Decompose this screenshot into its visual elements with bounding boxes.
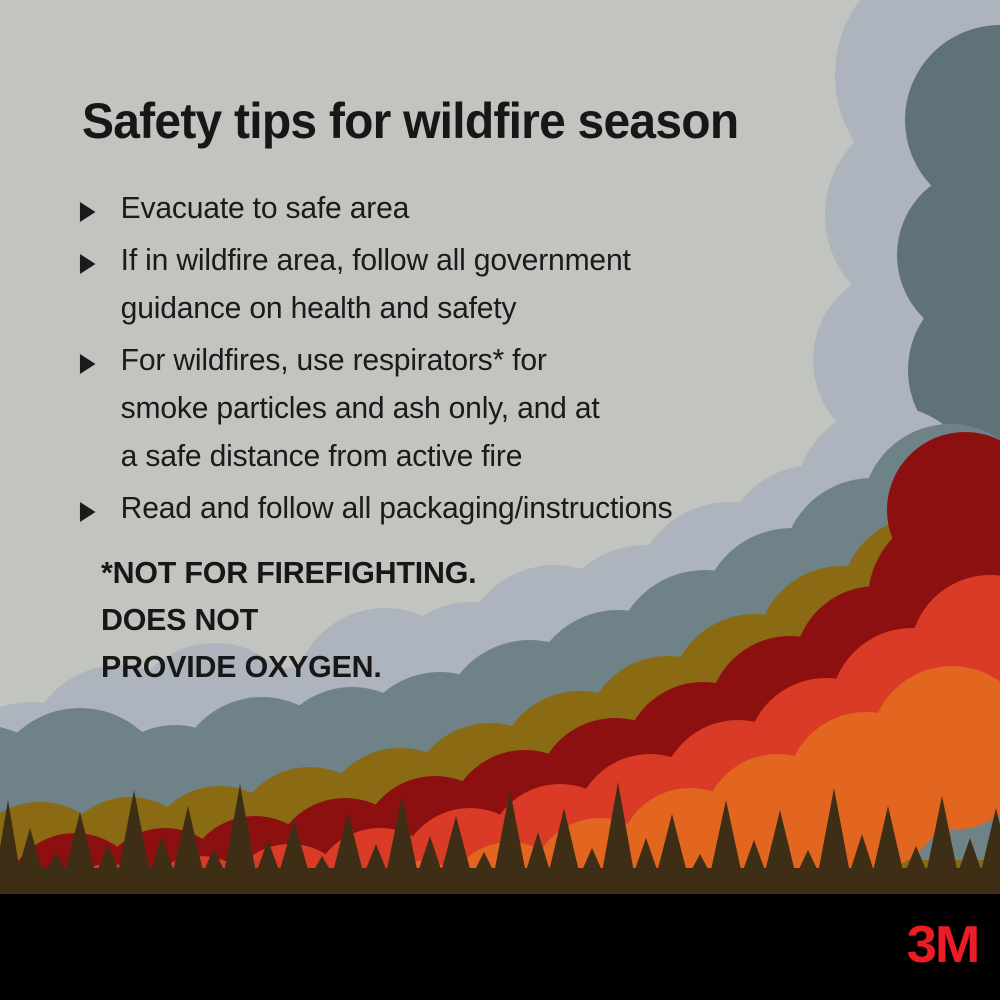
list-item-line: guidance on health and safety <box>121 284 854 332</box>
list-item-line: If in wildfire area, follow all governme… <box>121 236 854 284</box>
bullet-triangle-icon <box>80 354 96 374</box>
page-title: Safety tips for wildfire season <box>82 92 908 150</box>
list-item-text: Read and follow all packaging/instructio… <box>121 484 854 532</box>
bullet-triangle-icon <box>80 202 96 222</box>
bullet-triangle-icon <box>80 502 96 522</box>
list-item-text: If in wildfire area, follow all governme… <box>121 236 854 332</box>
disclaimer-line: DOES NOT <box>101 596 476 643</box>
list-item: If in wildfire area, follow all governme… <box>78 236 854 332</box>
list-item-line: Read and follow all packaging/instructio… <box>121 484 854 532</box>
list-item-line: For wildfires, use respirators* for <box>121 336 854 384</box>
list-item: Read and follow all packaging/instructio… <box>78 484 854 532</box>
list-item-line: a safe distance from active fire <box>121 432 854 480</box>
disclaimer-line: PROVIDE OXYGEN. <box>101 643 476 690</box>
disclaimer-line: *NOT FOR FIREFIGHTING. <box>101 549 476 596</box>
list-item-line: smoke particles and ash only, and at <box>121 384 854 432</box>
footer-bar <box>0 894 1000 1000</box>
list-item-text: Evacuate to safe area <box>121 184 854 232</box>
wildfire-safety-poster: Safety tips for wildfire season Evacuate… <box>0 0 1000 1000</box>
list-item: For wildfires, use respirators* for smok… <box>78 336 854 480</box>
list-item: Evacuate to safe area <box>78 184 854 232</box>
brand-logo-3m: 3M <box>906 919 978 971</box>
bullet-triangle-icon <box>80 254 96 274</box>
list-item-text: For wildfires, use respirators* for smok… <box>121 336 854 480</box>
disclaimer-text: *NOT FOR FIREFIGHTING. DOES NOT PROVIDE … <box>101 549 476 690</box>
safety-tips-list: Evacuate to safe area If in wildfire are… <box>78 184 878 536</box>
list-item-line: Evacuate to safe area <box>121 184 854 232</box>
